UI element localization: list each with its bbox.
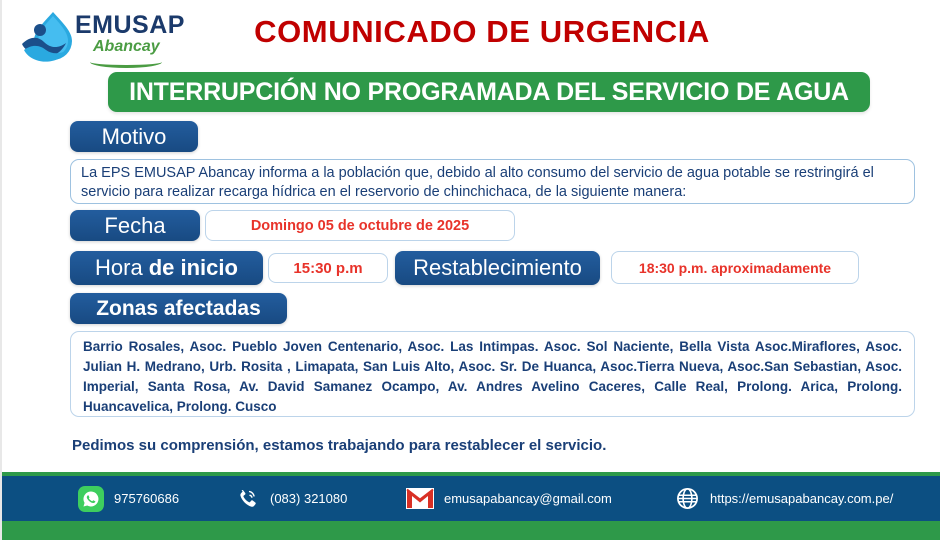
water-drop-wave-icon <box>20 10 76 64</box>
motivo-text: La EPS EMUSAP Abancay informa a la pobla… <box>81 165 874 200</box>
label-fecha: Fecha <box>70 210 200 241</box>
subtitle-text: INTERRUPCIÓN NO PROGRAMADA DEL SERVICIO … <box>129 78 849 107</box>
contact-email[interactable]: emusapabancay@gmail.com <box>406 488 612 509</box>
zonas-text: Barrio Rosales, Asoc. Pueblo Joven Cente… <box>83 339 902 414</box>
phone-icon <box>234 486 260 512</box>
contact-phone[interactable]: (083) 321080 <box>234 486 347 512</box>
footer-bottom-stripe <box>2 521 940 540</box>
contact-whatsapp-value: 975760686 <box>114 491 179 506</box>
announcement-poster: EMUSAP Abancay COMUNICADO DE URGENCIA IN… <box>0 0 940 540</box>
label-hora-inicio-strong: de inicio <box>149 255 238 281</box>
logo-brand-city: Abancay <box>93 38 203 55</box>
contact-website[interactable]: https://emusapabancay.com.pe/ <box>674 486 893 512</box>
globe-icon <box>674 486 700 512</box>
value-fecha: Domingo 05 de octubre de 2025 <box>205 210 515 241</box>
value-restablecimiento: 18:30 p.m. aproximadamente <box>611 251 859 284</box>
logo-brand-name: EMUSAP <box>75 12 203 38</box>
gmail-icon <box>406 488 434 509</box>
footer-contact-band: 975760686 (083) 321080 <box>2 476 940 521</box>
zonas-text-box: Barrio Rosales, Asoc. Pueblo Joven Cente… <box>70 331 915 417</box>
header: EMUSAP Abancay COMUNICADO DE URGENCIA <box>2 0 940 70</box>
label-hora-inicio-light: Hora <box>95 255 143 281</box>
label-restablecimiento: Restablecimiento <box>395 251 600 285</box>
logo-swoosh-underline <box>90 56 162 68</box>
subtitle-banner: INTERRUPCIÓN NO PROGRAMADA DEL SERVICIO … <box>108 72 870 112</box>
contact-whatsapp[interactable]: 975760686 <box>78 486 179 512</box>
value-hora-inicio: 15:30 p.m <box>268 253 388 283</box>
footer: 975760686 (083) 321080 <box>2 472 940 540</box>
whatsapp-icon <box>78 486 104 512</box>
contact-website-value: https://emusapabancay.com.pe/ <box>710 491 893 506</box>
label-hora-inicio: Hora de inicio <box>70 251 263 285</box>
label-motivo: Motivo <box>70 121 198 152</box>
label-zonas-afectadas: Zonas afectadas <box>70 293 287 324</box>
emusap-logo: EMUSAP Abancay <box>20 8 200 66</box>
page-title: COMUNICADO DE URGENCIA <box>202 14 762 50</box>
motivo-text-box: La EPS EMUSAP Abancay informa a la pobla… <box>70 159 915 204</box>
contact-email-value: emusapabancay@gmail.com <box>444 491 612 506</box>
closing-text: Pedimos su comprensión, estamos trabajan… <box>72 437 606 454</box>
contact-phone-value: (083) 321080 <box>270 491 347 506</box>
